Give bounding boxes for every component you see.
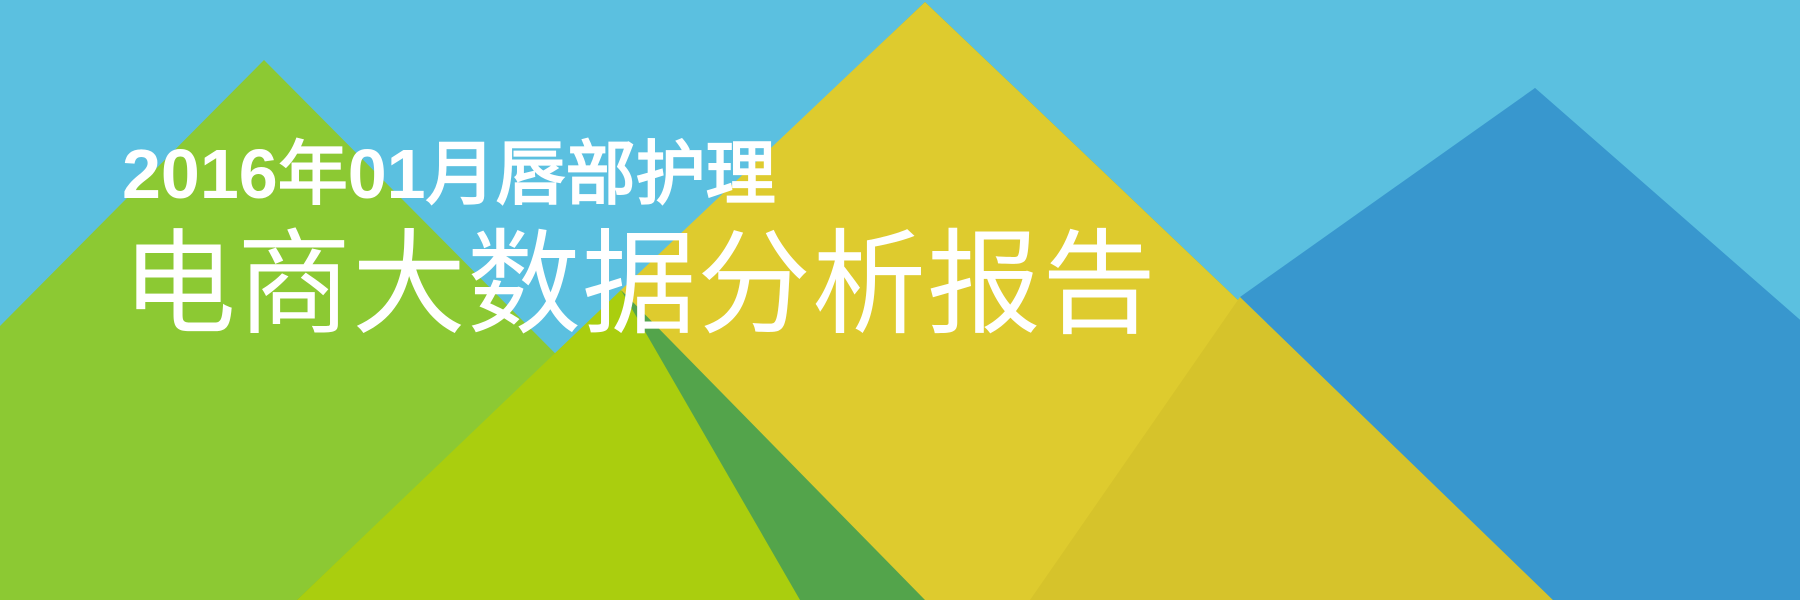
report-cover-banner: 2016年01月唇部护理 电商大数据分析报告 (0, 0, 1800, 600)
background-shape-layer (0, 0, 1800, 600)
